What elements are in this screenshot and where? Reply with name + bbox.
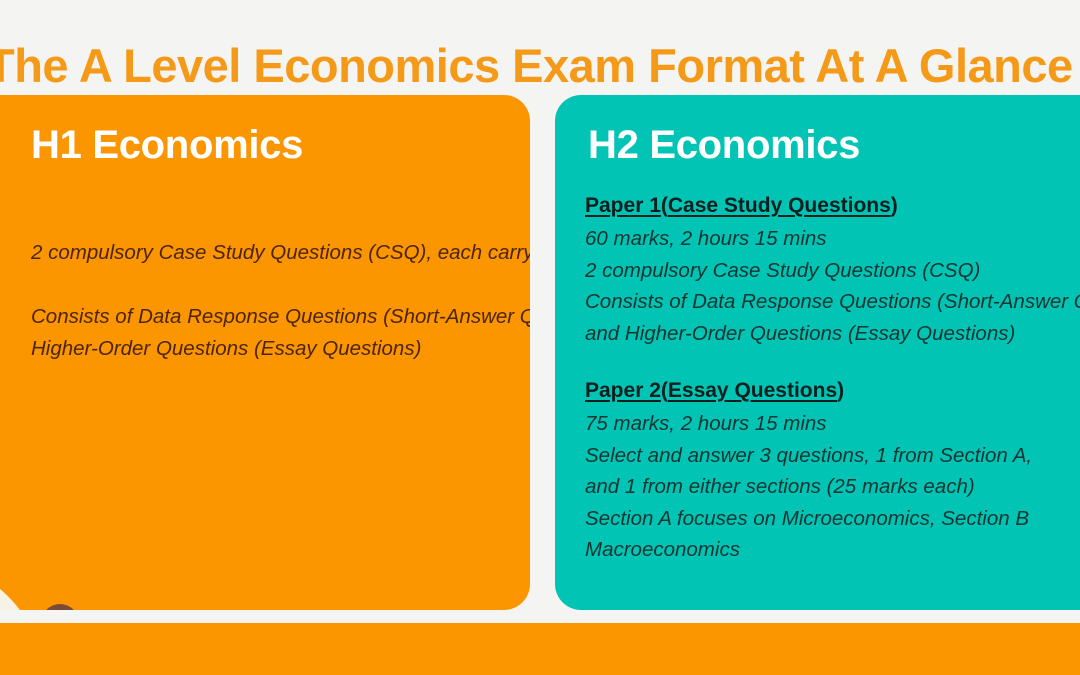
page-title: The A Level Economics Exam Format At A G… [0,38,1073,93]
h1-body-line-2 [31,269,530,301]
finance-trading-illustration: BUY SELL [0,495,325,610]
paper-2-line-5: Macroeconomics [585,534,1080,566]
h1-economics-panel: H1 Economics 2 compulsory Case Study Que… [0,95,530,610]
paper-2-section: Paper 2(Essay Questions) 75 marks, 2 hou… [585,375,1080,566]
paper-2-title: Paper 2(Essay Questions) [585,375,1080,406]
paper-1-paren-open: ( [661,194,668,217]
bottom-orange-band [0,623,1080,675]
paper-1-label: Paper 1 [585,194,661,217]
paper-1-title: Paper 1(Case Study Questions) [585,190,1080,221]
paper-2-paren-open: ( [661,379,668,402]
paper-2-line-1: 75 marks, 2 hours 15 mins [585,408,1080,440]
h1-panel-body: 2 compulsory Case Study Questions (CSQ),… [31,237,530,365]
h2-panel-body: Paper 1(Case Study Questions) 60 marks, … [585,190,1080,566]
circle-backdrop [0,560,45,610]
paper-1-emphasis: Case Study Questions [668,194,891,217]
h1-body-line-4: Higher-Order Questions (Essay Questions) [31,333,530,365]
paper-2-line-4: Section A focuses on Microeconomics, Sec… [585,503,1080,535]
paper-2-line-2: Select and answer 3 questions, 1 from Se… [585,440,1080,472]
h1-panel-heading: H1 Economics [31,123,303,168]
paper-2-line-3: and 1 from either sections (25 marks eac… [585,471,1080,503]
paper-2-label: Paper 2 [585,379,661,402]
paper-1-line-2: 2 compulsory Case Study Questions (CSQ) [585,255,1080,287]
paper-1-line-3: Consists of Data Response Questions (Sho… [585,286,1080,318]
h2-panel-heading: H2 Economics [588,123,860,168]
paper-2-emphasis: Essay Questions [668,379,837,402]
h1-body-line-3: Consists of Data Response Questions (Sho… [31,301,530,333]
h2-economics-panel: H2 Economics Paper 1(Case Study Question… [555,95,1080,610]
paper-1-section: Paper 1(Case Study Questions) 60 marks, … [585,190,1080,349]
h1-body-line-1: 2 compulsory Case Study Questions (CSQ),… [31,237,530,269]
paper-2-paren-close: ) [837,379,844,402]
page-title-bar: The A Level Economics Exam Format At A G… [0,0,1080,95]
paper-1-line-1: 60 marks, 2 hours 15 mins [585,223,1080,255]
paper-1-paren-close: ) [891,194,898,217]
paper-1-line-4: and Higher-Order Questions (Essay Questi… [585,318,1080,350]
